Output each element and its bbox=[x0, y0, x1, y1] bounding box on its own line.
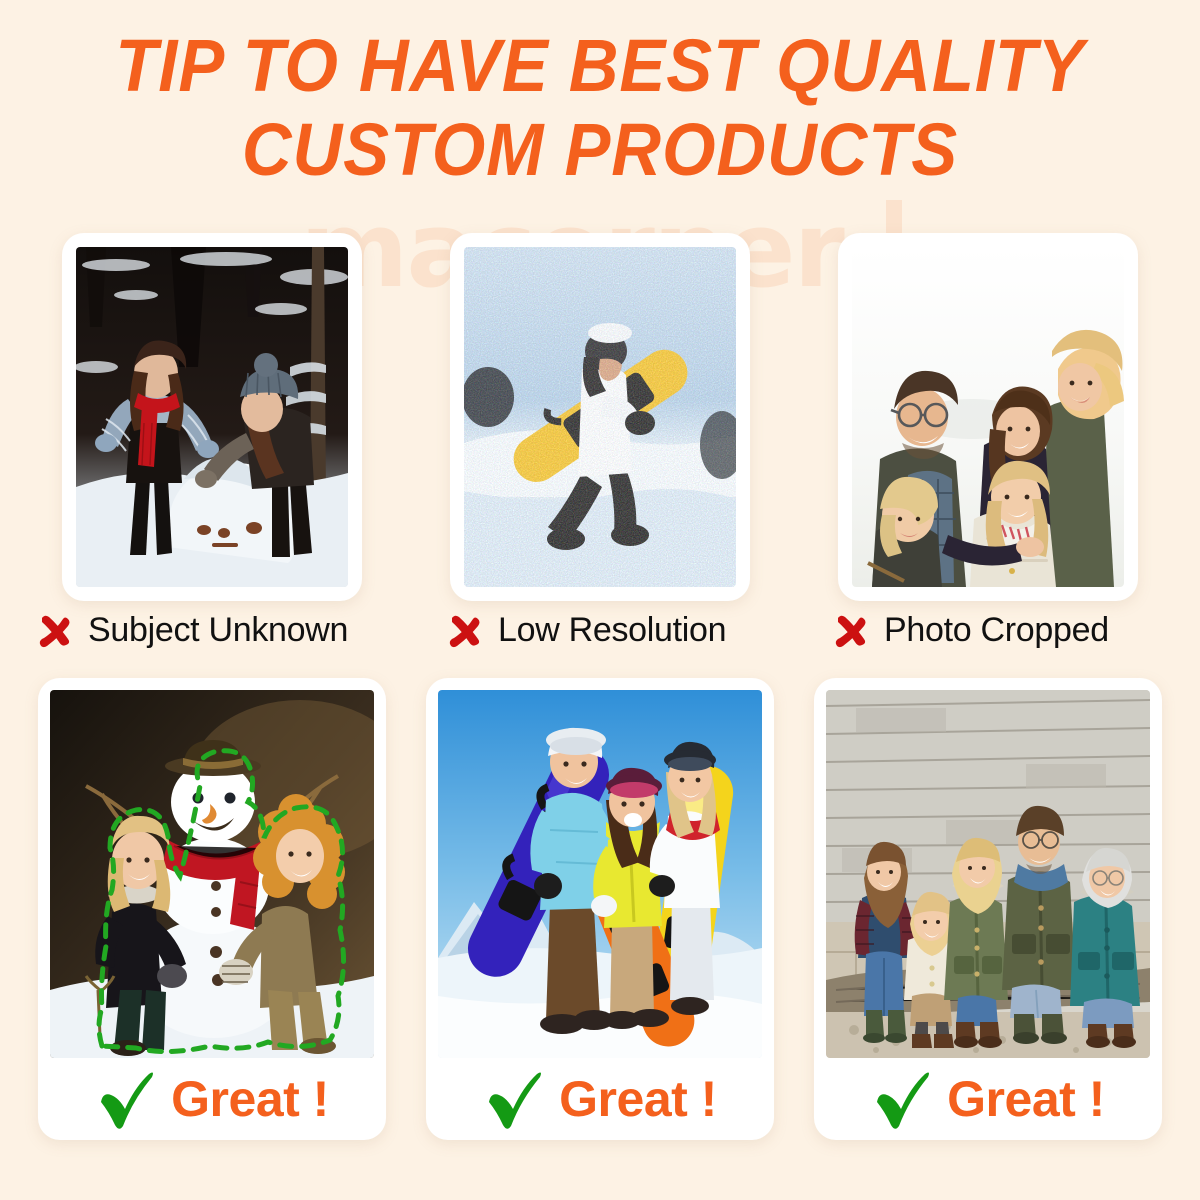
red-cross-icon bbox=[832, 611, 870, 649]
good-caption-text: Great ! bbox=[171, 1074, 329, 1124]
title-line-2: CUSTOM PRODUCTS bbox=[42, 108, 1158, 192]
bad-example-card-1[interactable] bbox=[62, 233, 362, 601]
good-caption-text: Great ! bbox=[947, 1074, 1105, 1124]
photo-noisy-snowboarder-walking bbox=[464, 247, 736, 587]
photo-two-women-with-snowman-outlined bbox=[50, 690, 374, 1058]
bad-label-text: Photo Cropped bbox=[884, 611, 1109, 650]
good-caption-3: Great ! bbox=[826, 1058, 1150, 1140]
good-example-card-3[interactable]: Great ! bbox=[814, 678, 1162, 1140]
bad-label-text: Low Resolution bbox=[498, 611, 726, 650]
good-example-card-1[interactable]: Great ! bbox=[38, 678, 386, 1140]
green-check-icon bbox=[95, 1068, 157, 1130]
photo-family-of-five-by-barn bbox=[826, 690, 1150, 1058]
red-cross-icon bbox=[36, 611, 74, 649]
bad-label-1: Subject Unknown bbox=[36, 606, 348, 654]
photo-two-women-building-snowman-in-forest bbox=[76, 247, 348, 587]
bad-label-text: Subject Unknown bbox=[88, 611, 348, 650]
green-check-icon bbox=[871, 1068, 933, 1130]
page-title: TIP TO HAVE BEST QUALITY CUSTOM PRODUCTS bbox=[0, 24, 1200, 192]
bad-label-3: Photo Cropped bbox=[832, 606, 1109, 654]
good-caption-2: Great ! bbox=[438, 1058, 762, 1140]
title-line-1: TIP TO HAVE BEST QUALITY bbox=[42, 24, 1158, 108]
good-caption-text: Great ! bbox=[559, 1074, 717, 1124]
good-caption-1: Great ! bbox=[50, 1058, 374, 1140]
photo-three-snowboarders-blue-sky bbox=[438, 690, 762, 1058]
good-example-card-2[interactable]: Great ! bbox=[426, 678, 774, 1140]
bad-example-card-3[interactable] bbox=[838, 233, 1138, 601]
bad-label-2: Low Resolution bbox=[446, 606, 726, 654]
green-check-icon bbox=[483, 1068, 545, 1130]
red-cross-icon bbox=[446, 611, 484, 649]
bad-example-card-2[interactable] bbox=[450, 233, 750, 601]
photo-cropped-family-photo bbox=[852, 247, 1124, 587]
